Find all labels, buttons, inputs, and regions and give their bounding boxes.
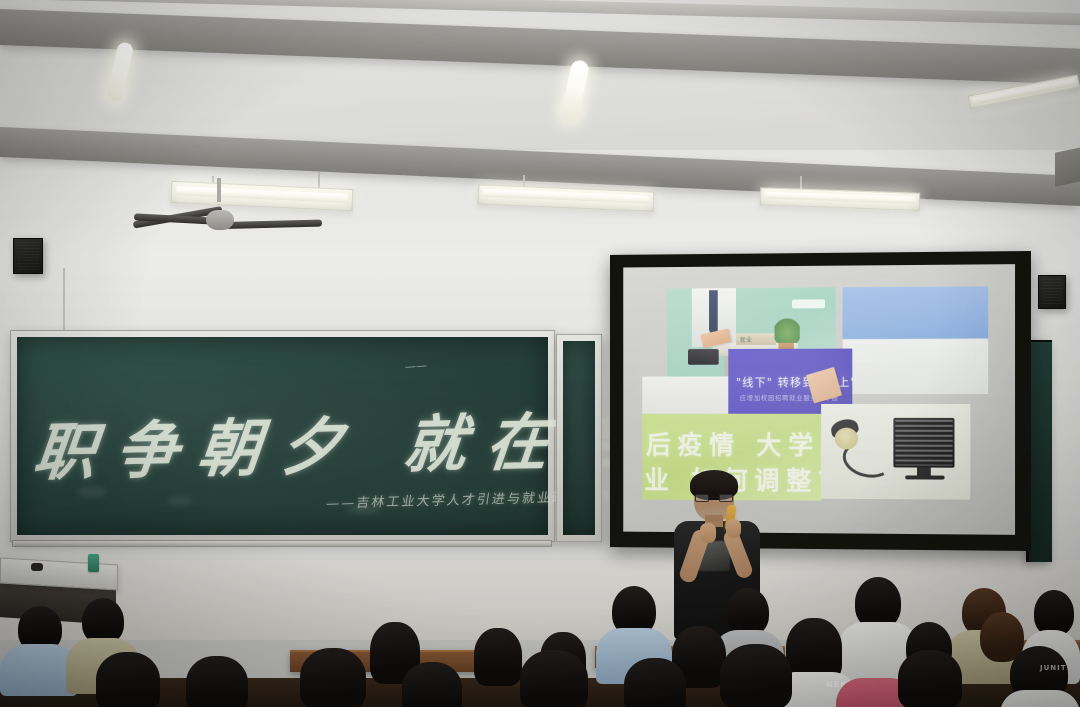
presenter-hand-left: [700, 523, 716, 543]
student-body: [1000, 690, 1080, 707]
wall-speaker-right: [1038, 275, 1066, 309]
blackboard: 职争朝夕 就在吉林 ——吉林工业大学人才引进与就业政策宣讲 一一: [10, 330, 555, 542]
speaker-grill-left: [17, 242, 39, 270]
student-head: [624, 658, 686, 707]
presenter-glasses: [695, 494, 733, 502]
cartoon-monitor-base: [905, 475, 944, 479]
student-head: [474, 628, 522, 686]
podium-knob: [31, 563, 43, 571]
fan-blade-3: [226, 219, 322, 229]
student-head: [898, 650, 962, 707]
student-head: [720, 644, 792, 707]
student-head: [402, 662, 462, 707]
slide-blue-band: [843, 286, 989, 394]
wall-speaker-left: [13, 238, 43, 274]
speaker-grill-right: [1042, 279, 1062, 305]
lecture-hall-photo: 职争朝夕 就在吉林 ——吉林工业大学人才引进与就业政策宣讲 一一: [0, 0, 1080, 707]
beam-drop-right: [1055, 147, 1080, 187]
cartoon-monitor-screen: [893, 418, 954, 468]
slide-green-line1: 后疫情 大学生就: [646, 425, 821, 462]
presenter-hand-right: [726, 519, 741, 538]
ceiling-fan: [122, 196, 322, 240]
tee-print-junit: JUNIT: [1040, 664, 1067, 672]
chalk-tray: [12, 540, 552, 547]
green-bottle: [88, 554, 99, 572]
cartoon-person-face: [835, 428, 858, 450]
slide-cartoon-monitor: [821, 404, 970, 500]
slide-caption-desk: 就业: [740, 335, 753, 344]
fan-rod: [217, 178, 221, 202]
blackboard-sliding-panel[interactable]: [556, 334, 602, 542]
student-head: [186, 656, 248, 707]
blackboard-corner-mark: 一一: [404, 358, 427, 375]
student-head: [727, 588, 769, 636]
student-head: [96, 652, 160, 707]
blackboard-panel-surface: [563, 341, 595, 535]
student-head: [300, 648, 366, 707]
blackboard-surface: 职争朝夕 就在吉林 ——吉林工业大学人才引进与就业政策宣讲 一一: [17, 337, 548, 535]
fan-hub: [206, 210, 234, 230]
student-head: [520, 650, 588, 707]
